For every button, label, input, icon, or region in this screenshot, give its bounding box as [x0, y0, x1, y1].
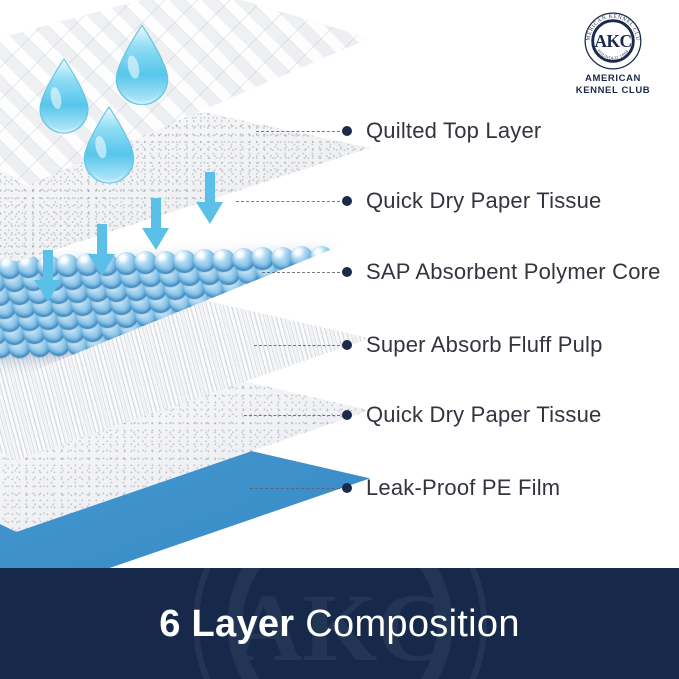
- callout-super-absorb-fluff-pulp[interactable]: Super Absorb Fluff Pulp: [0, 333, 603, 357]
- banner-title: 6 Layer Composition: [159, 605, 520, 643]
- banner-title-strong: 6 Layer: [159, 603, 294, 645]
- leader-line: [254, 345, 340, 346]
- callout-quick-dry-paper-tissue-top[interactable]: Quick Dry Paper Tissue: [0, 189, 601, 213]
- callout-bullet: [342, 267, 352, 277]
- akc-seal-icon: AMERICAN KENNEL CLUB FOUNDED 1884 AKC: [584, 12, 642, 70]
- callout-bullet: [342, 196, 352, 206]
- callout-label: Leak-Proof PE Film: [366, 477, 560, 499]
- bottom-banner: AKC 6 Layer Composition: [0, 568, 679, 679]
- callout-label: Quick Dry Paper Tissue: [366, 190, 601, 212]
- leader-line: [244, 415, 340, 416]
- callout-bullet: [342, 126, 352, 136]
- leader-line: [256, 131, 340, 132]
- callout-quick-dry-paper-tissue-bottom[interactable]: Quick Dry Paper Tissue: [0, 403, 601, 427]
- callout-label: Quick Dry Paper Tissue: [366, 404, 601, 426]
- callout-label: Quilted Top Layer: [366, 120, 541, 142]
- callout-quilted-top-layer[interactable]: Quilted Top Layer: [0, 119, 541, 143]
- akc-wordmark-line2: KENNEL CLUB: [567, 85, 659, 97]
- akc-wordmark: AMERICAN KENNEL CLUB: [567, 73, 659, 97]
- callout-sap-absorbent-polymer-core[interactable]: SAP Absorbent Polymer Core: [0, 260, 661, 284]
- callout-leak-proof-pe-film[interactable]: Leak-Proof PE Film: [0, 476, 560, 500]
- svg-text:AKC: AKC: [595, 31, 632, 51]
- callout-label: Super Absorb Fluff Pulp: [366, 334, 603, 356]
- callout-bullet: [342, 340, 352, 350]
- leader-line: [236, 201, 340, 202]
- akc-logo: AMERICAN KENNEL CLUB FOUNDED 1884 AKC AM…: [567, 12, 659, 97]
- callout-bullet: [342, 483, 352, 493]
- akc-wordmark-line1: AMERICAN: [567, 73, 659, 85]
- infographic-root: Quilted Top Layer Quick Dry Paper Tissue…: [0, 0, 679, 679]
- leader-line: [250, 488, 340, 489]
- callout-bullet: [342, 410, 352, 420]
- callout-label: SAP Absorbent Polymer Core: [366, 261, 661, 283]
- banner-title-light: Composition: [305, 603, 520, 645]
- leader-line: [262, 272, 340, 273]
